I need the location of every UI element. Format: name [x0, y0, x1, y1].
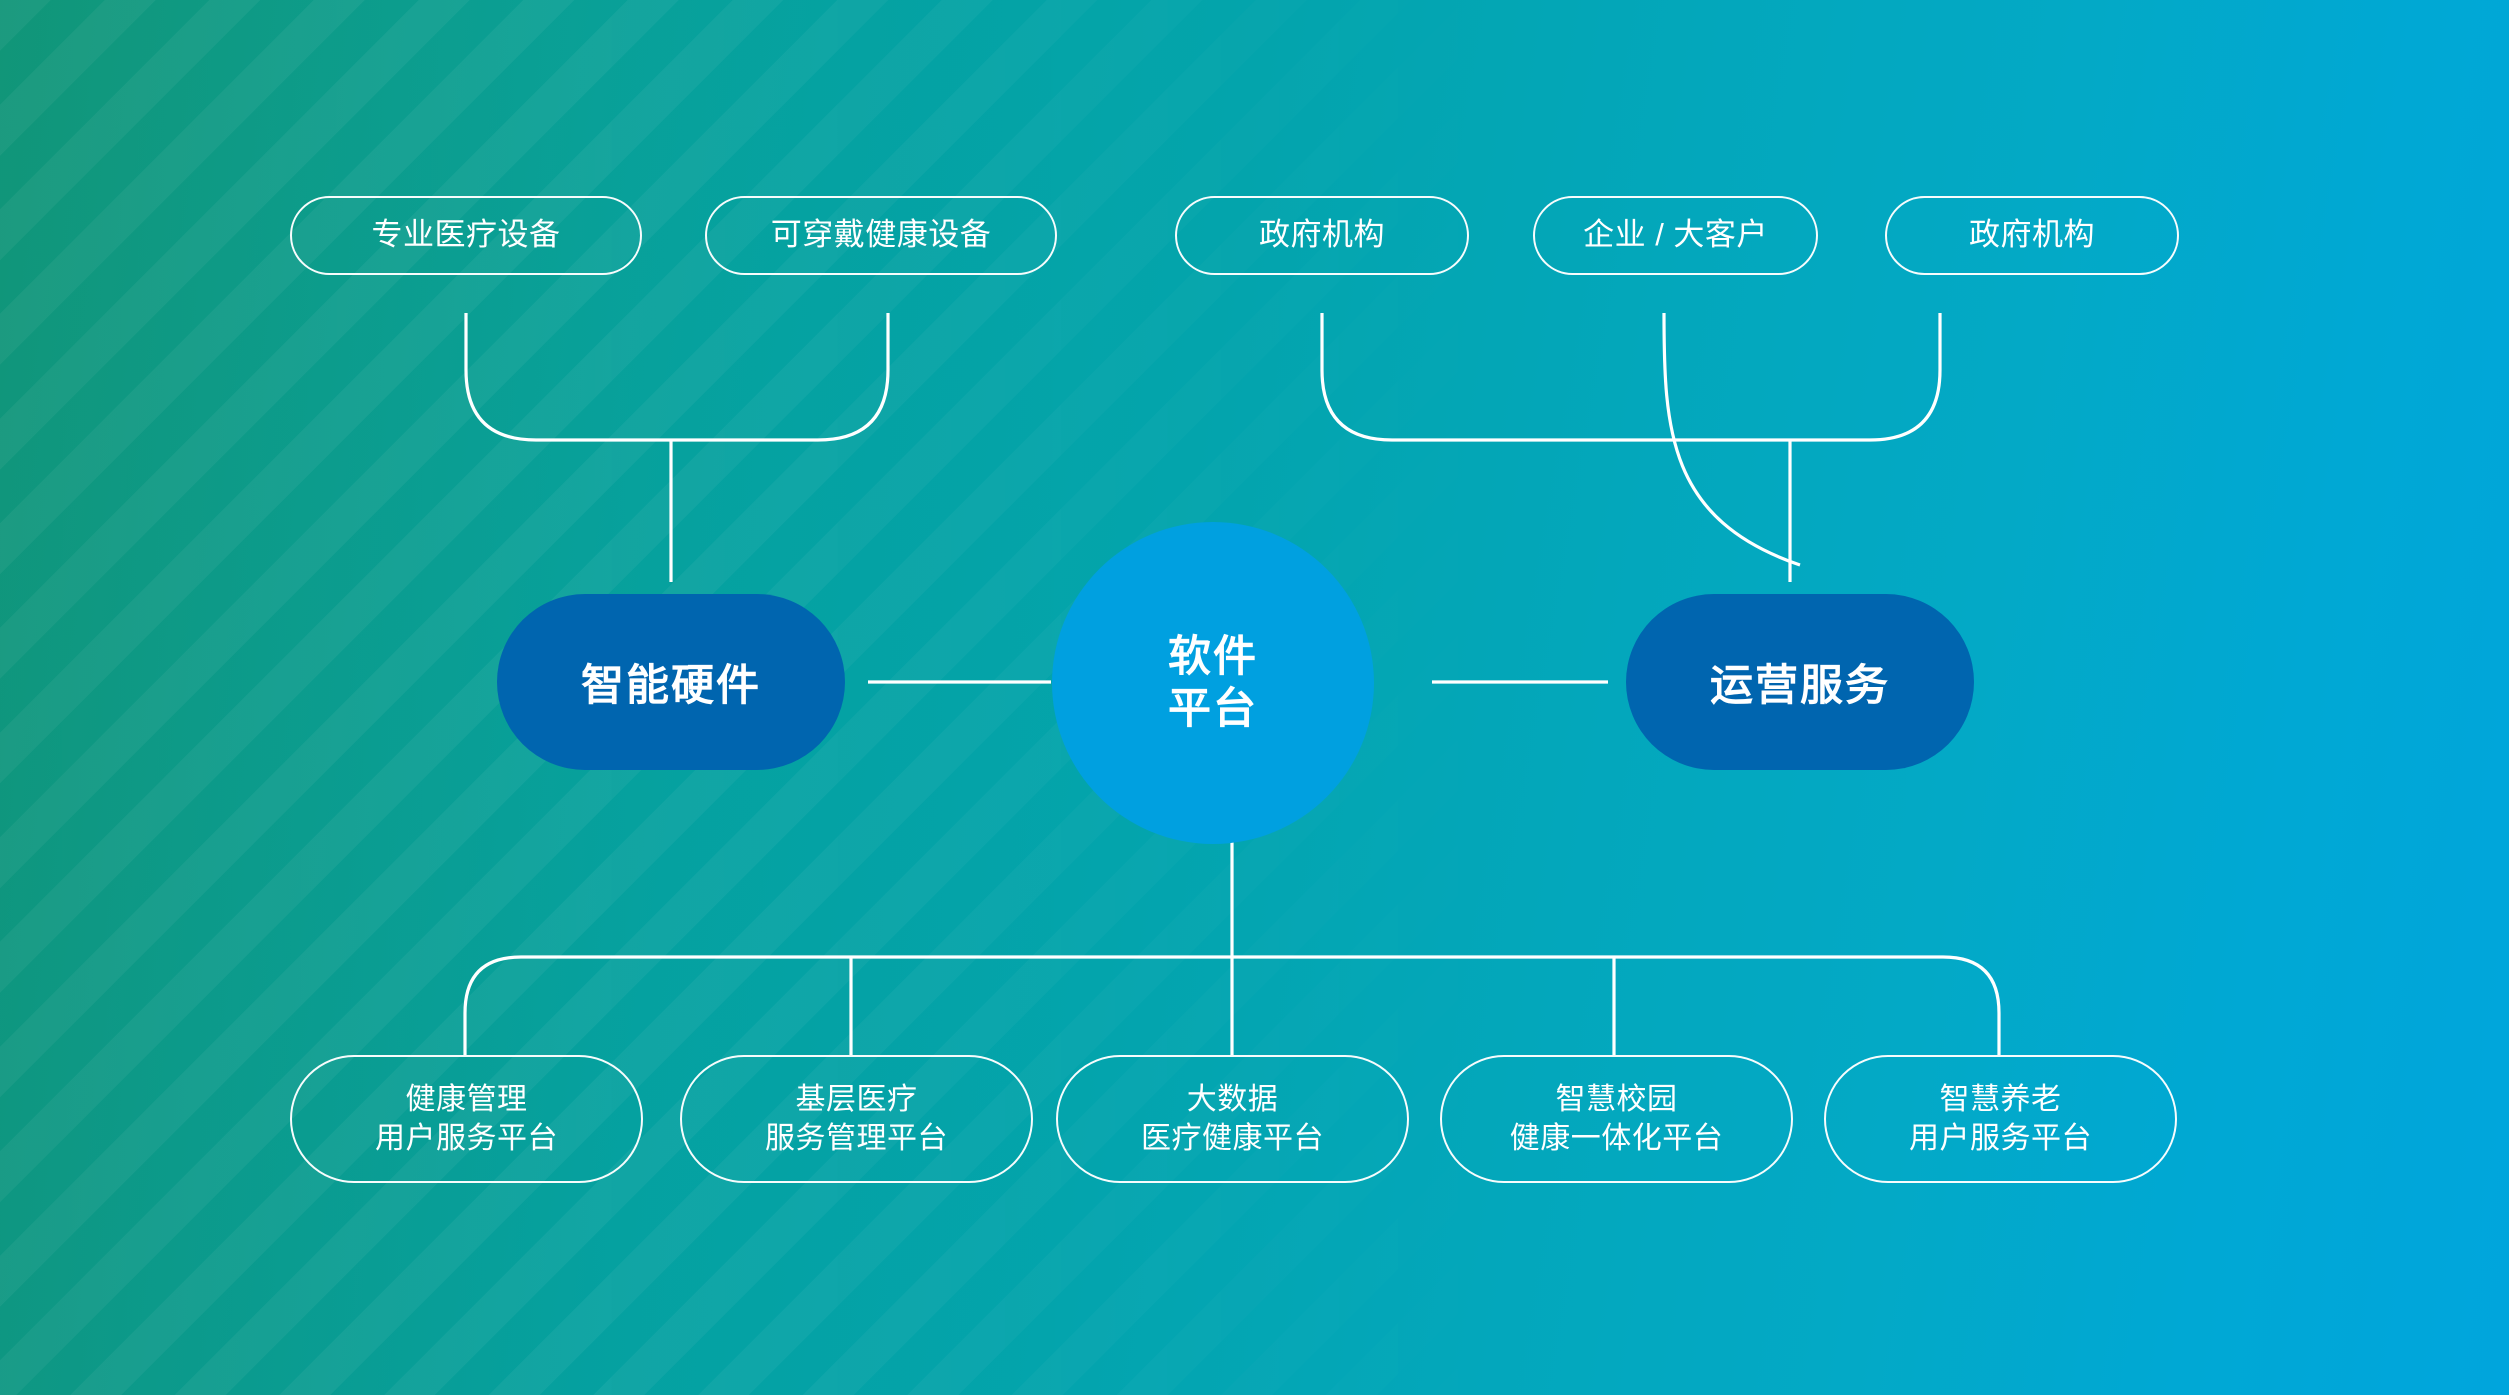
core-node-software-platform[interactable]: 软件 平台 [1052, 522, 1374, 844]
pill-primary-care-platform[interactable]: 基层医疗 服务管理平台 [680, 1055, 1033, 1183]
pill-label: 健康管理 用户服务平台 [375, 1080, 558, 1158]
core-node-label: 运营服务 [1710, 651, 1890, 713]
pill-label: 智慧养老 用户服务平台 [1909, 1080, 2092, 1158]
pill-big-data-health-platform[interactable]: 大数据 医疗健康平台 [1056, 1055, 1409, 1183]
pill-health-management-platform[interactable]: 健康管理 用户服务平台 [290, 1055, 643, 1183]
diagram-canvas: 专业医疗设备 可穿戴健康设备 政府机构 企业 / 大客户 政府机构 智能硬件 软… [0, 0, 2509, 1395]
pill-enterprise-key-account[interactable]: 企业 / 大客户 [1533, 196, 1818, 275]
pill-smart-campus-platform[interactable]: 智慧校园 健康一体化平台 [1440, 1055, 1793, 1183]
pill-label: 基层医疗 服务管理平台 [765, 1080, 948, 1158]
pill-smart-elderly-care-platform[interactable]: 智慧养老 用户服务平台 [1824, 1055, 2177, 1183]
core-node-label: 智能硬件 [581, 651, 761, 713]
link-top-left-bus [466, 313, 888, 440]
pill-label: 专业医疗设备 [372, 215, 561, 255]
pill-professional-medical-device[interactable]: 专业医疗设备 [290, 196, 642, 275]
pill-government-agency-left[interactable]: 政府机构 [1175, 196, 1469, 275]
pill-label: 智慧校园 健康一体化平台 [1510, 1080, 1724, 1158]
link-top-right-bus [1322, 313, 1940, 440]
pill-label: 政府机构 [1259, 215, 1385, 255]
pill-wearable-health-device[interactable]: 可穿戴健康设备 [705, 196, 1057, 275]
core-node-operation-service[interactable]: 运营服务 [1626, 594, 1974, 770]
pill-government-agency-right[interactable]: 政府机构 [1885, 196, 2179, 275]
pill-label: 大数据 医疗健康平台 [1141, 1080, 1324, 1158]
pill-label: 政府机构 [1969, 215, 2095, 255]
pill-label: 企业 / 大客户 [1583, 215, 1768, 255]
core-node-smart-hardware[interactable]: 智能硬件 [497, 594, 845, 770]
core-node-label: 软件 平台 [1168, 631, 1258, 736]
pill-label: 可穿戴健康设备 [771, 215, 992, 255]
